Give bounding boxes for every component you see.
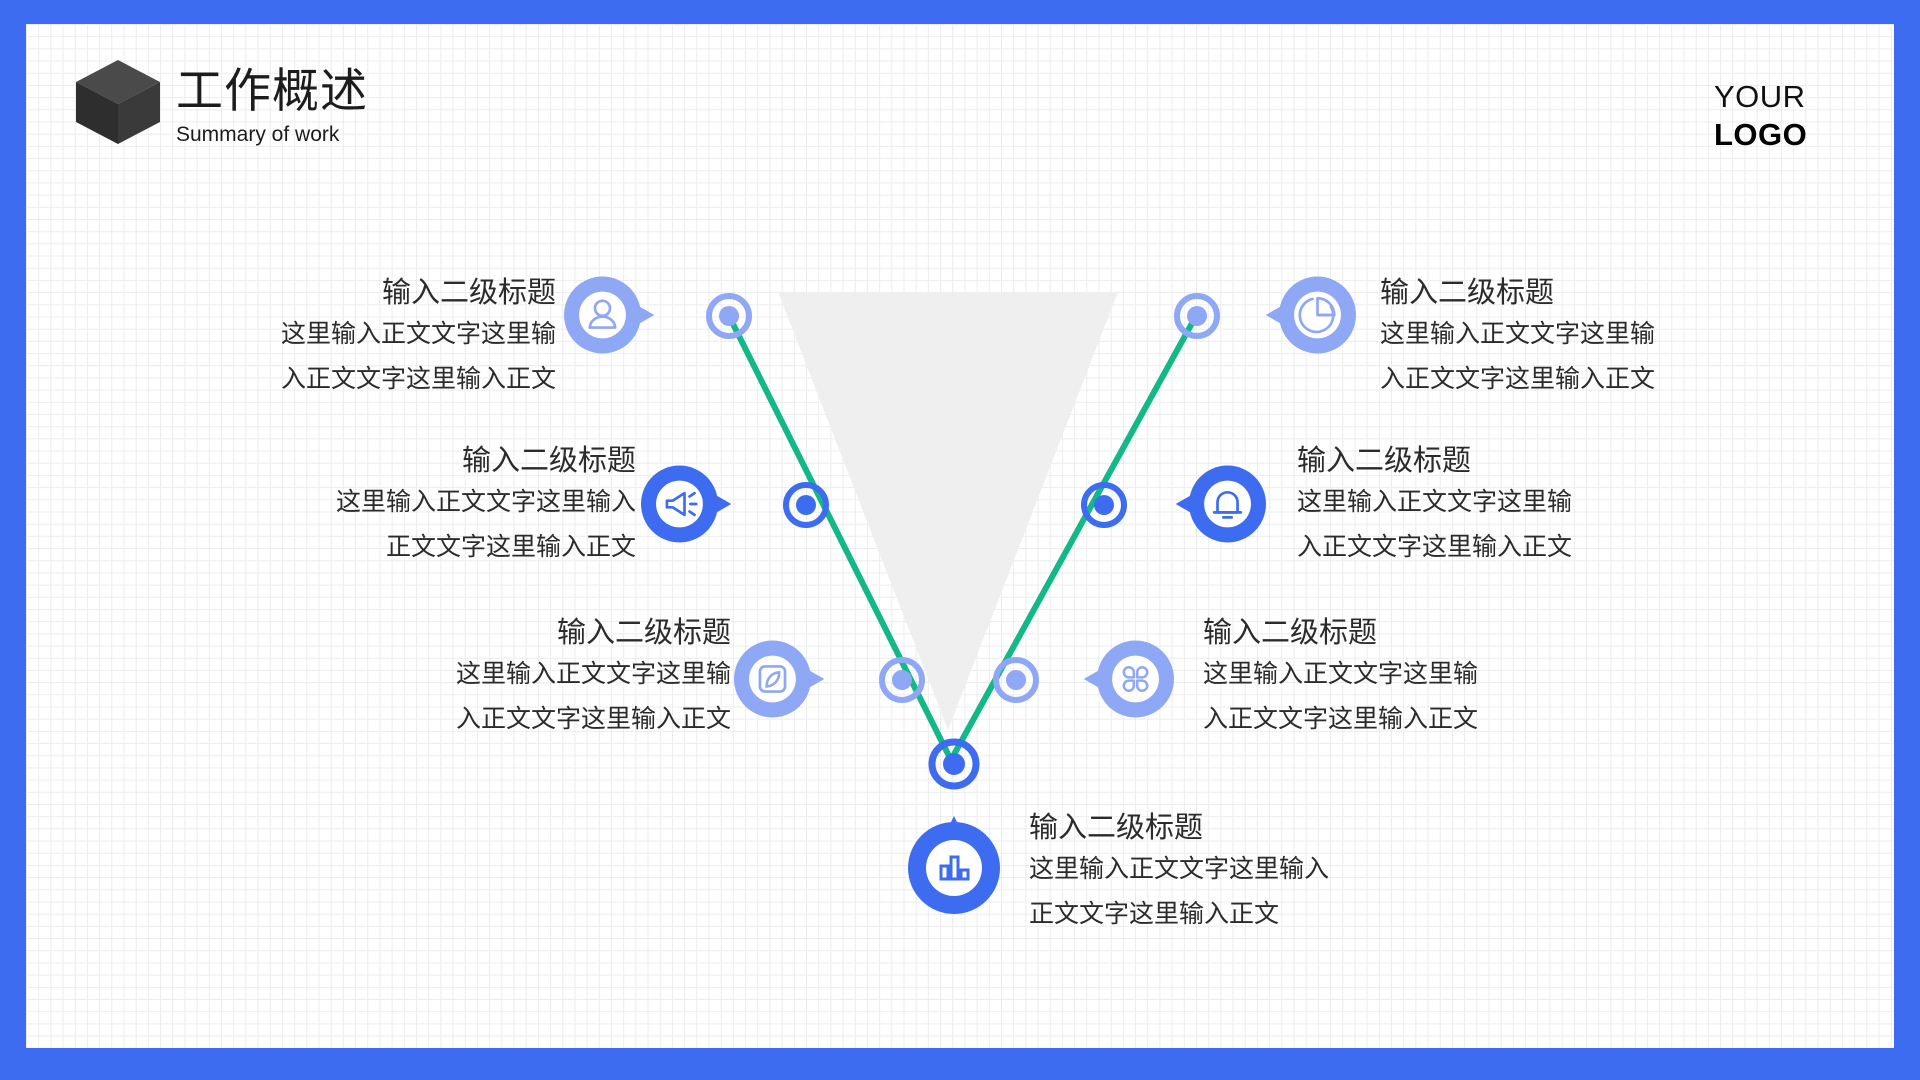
speaker-icon[interactable] <box>641 458 733 550</box>
node-body-line1: 这里输入正文文字这里输 <box>331 652 731 697</box>
slide-canvas: 工作概述 Summary of work YOUR LOGO <box>0 0 1920 1080</box>
node-title: 输入二级标题 <box>331 614 731 652</box>
node-marker-right-3[interactable] <box>993 657 1039 703</box>
node-text-left-2: 输入二级标题 这里输入正文文字这里输入 正文文字这里输入正文 <box>236 442 636 570</box>
grid-clover-icon[interactable] <box>1082 633 1174 725</box>
node-title: 输入二级标题 <box>1297 442 1697 480</box>
node-body-line2: 入正文文字这里输入正文 <box>156 357 556 402</box>
node-body-line1: 这里输入正文文字这里输 <box>1297 480 1697 525</box>
node-body-line2: 正文文字这里输入正文 <box>236 525 636 570</box>
node-body-line2: 入正文文字这里输入正文 <box>1380 357 1780 402</box>
node-body-line2: 入正文文字这里输入正文 <box>331 697 731 742</box>
node-text-right-2: 输入二级标题 这里输入正文文字这里输 入正文文字这里输入正文 <box>1297 442 1697 570</box>
node-marker-right-1[interactable] <box>1174 293 1220 339</box>
node-text-left-1: 输入二级标题 这里输入正文文字这里输 入正文文字这里输入正文 <box>156 274 556 402</box>
slide-content-area: 工作概述 Summary of work YOUR LOGO <box>26 24 1894 1048</box>
node-marker-bottom[interactable] <box>928 738 980 790</box>
node-title: 输入二级标题 <box>236 442 636 480</box>
node-body-line1: 这里输入正文文字这里输 <box>1203 652 1603 697</box>
node-body-line1: 这里输入正文文字这里输入 <box>236 480 636 525</box>
node-marker-left-3[interactable] <box>879 657 925 703</box>
node-body-line1: 这里输入正文文字这里输入 <box>1029 847 1449 892</box>
node-text-bottom: 输入二级标题 这里输入正文文字这里输入 正文文字这里输入正文 <box>1029 809 1449 937</box>
node-body-line1: 这里输入正文文字这里输 <box>1380 312 1780 357</box>
node-title: 输入二级标题 <box>1380 274 1780 312</box>
node-body-line1: 这里输入正文文字这里输 <box>156 312 556 357</box>
edit-icon[interactable] <box>734 633 826 725</box>
node-title: 输入二级标题 <box>156 274 556 312</box>
pie-chart-icon[interactable] <box>1264 269 1356 361</box>
node-body-line2: 正文文字这里输入正文 <box>1029 892 1449 937</box>
node-marker-left-2[interactable] <box>783 482 829 528</box>
node-body-line2: 入正文文字这里输入正文 <box>1203 697 1603 742</box>
node-title: 输入二级标题 <box>1029 809 1449 847</box>
user-icon[interactable] <box>564 269 656 361</box>
node-text-right-1: 输入二级标题 这里输入正文文字这里输 入正文文字这里输入正文 <box>1380 274 1780 402</box>
node-text-right-3: 输入二级标题 这里输入正文文字这里输 入正文文字这里输入正文 <box>1203 614 1603 742</box>
node-marker-left-1[interactable] <box>706 293 752 339</box>
node-title: 输入二级标题 <box>1203 614 1603 652</box>
node-body-line2: 入正文文字这里输入正文 <box>1297 525 1697 570</box>
node-marker-right-2[interactable] <box>1081 482 1127 528</box>
node-text-left-3: 输入二级标题 这里输入正文文字这里输 入正文文字这里输入正文 <box>331 614 731 742</box>
bell-icon[interactable] <box>1174 458 1266 550</box>
bar-chart-icon[interactable] <box>908 804 1000 914</box>
